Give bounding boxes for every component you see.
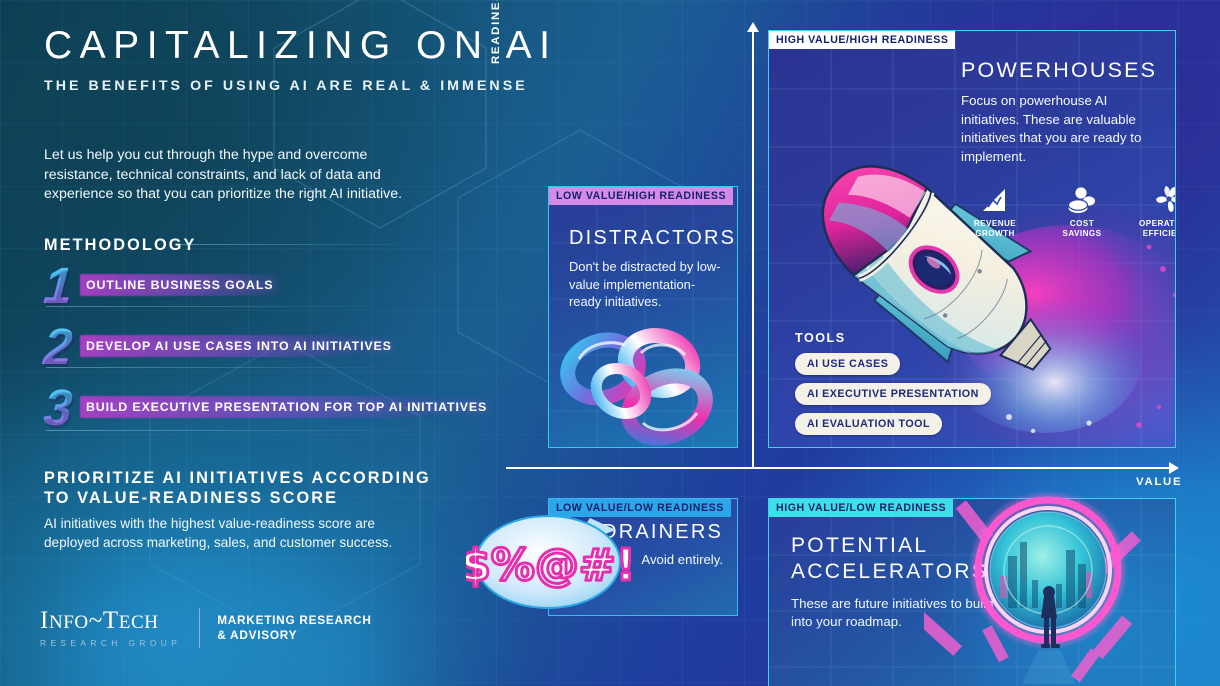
- info-tech-logo: INFO~TECH RESEARCH GROUP MARKETING RESEA…: [40, 608, 372, 648]
- operational-efficiency-icon: [1139, 183, 1176, 213]
- accelerators-body: These are future initiatives to build in…: [791, 595, 1006, 632]
- kpi-revenue-growth: REVENUE GROWTH: [965, 183, 1025, 238]
- step-label: BUILD EXECUTIVE PRESENTATION FOR TOP AI …: [86, 397, 487, 417]
- kpi-label-line1: COST: [1052, 219, 1112, 229]
- logo-name: INFO~TECH: [40, 608, 181, 633]
- quadrant-badge-accelerators: HIGH VALUE/LOW READINESS: [769, 499, 953, 517]
- kpi-label-line2: EFFICIENCY: [1139, 229, 1176, 239]
- tool-pill[interactable]: AI USE CASES: [795, 353, 900, 375]
- kpi-label: OPERATIONAL EFFICIENCY: [1139, 219, 1176, 238]
- prioritize-body: AI initiatives with the highest value-re…: [44, 515, 424, 552]
- infographic-canvas: CAPITALIZING ON AI THE BENEFITS OF USING…: [0, 0, 1220, 686]
- logo-name-t: T: [103, 607, 119, 634]
- value-axis-label: VALUE: [1136, 476, 1182, 488]
- kpi-label: REVENUE GROWTH: [965, 219, 1025, 238]
- accelerators-title-line2: ACCELERATORS: [791, 559, 1006, 585]
- cost-savings-icon: [1052, 183, 1112, 213]
- logo-name-ech: ECH: [119, 612, 159, 633]
- logo-tagline: RESEARCH GROUP: [40, 638, 181, 648]
- methodology-heading: METHODOLOGY: [44, 236, 196, 255]
- quadrant-badge-drainers: LOW VALUE/LOW READINESS: [549, 499, 731, 517]
- quadrant-badge-distractors: LOW VALUE/HIGH READINESS: [549, 187, 733, 205]
- distractors-title: DISTRACTORS: [569, 227, 727, 250]
- accelerators-text-block: POTENTIAL ACCELERATORS These are future …: [791, 533, 1006, 632]
- methodology-step: 3 BUILD EXECUTIVE PRESENTATION FOR TOP A…: [36, 384, 456, 445]
- accelerators-title: POTENTIAL ACCELERATORS: [791, 533, 1006, 585]
- step-label: OUTLINE BUSINESS GOALS: [86, 275, 273, 295]
- prioritize-heading-line1: PRIORITIZE AI INITIATIVES ACCORDING: [44, 468, 464, 488]
- readiness-axis-label: READINESS: [490, 0, 502, 64]
- quadrant-distractors[interactable]: LOW VALUE/HIGH READINESS DISTRACTORS Don…: [548, 186, 738, 448]
- kpi-label-line1: REVENUE: [965, 219, 1025, 229]
- revenue-growth-icon: [965, 183, 1025, 213]
- logo-wordmark: INFO~TECH RESEARCH GROUP: [40, 608, 181, 648]
- methodology-step: 2 DEVELOP AI USE CASES INTO AI INITIATIV…: [36, 323, 456, 384]
- logo-name-nfo: NFO: [49, 612, 89, 633]
- header-block: CAPITALIZING ON AI THE BENEFITS OF USING…: [44, 26, 514, 94]
- powerhouses-kpi-row: REVENUE GROWTH: [965, 183, 1176, 238]
- quadrant-background: [549, 187, 737, 447]
- methodology-step: 1 OUTLINE BUSINESS GOALS: [36, 262, 456, 323]
- step-rule: [46, 306, 386, 307]
- kpi-label: COST SAVINGS: [1052, 219, 1112, 238]
- step-rule: [46, 367, 406, 368]
- drainers-body: Avoid entirely.: [602, 552, 723, 567]
- logo-division-line2: & ADVISORY: [217, 628, 371, 643]
- kpi-label-line2: SAVINGS: [1052, 229, 1112, 239]
- powerhouses-title: POWERHOUSES: [961, 58, 1166, 83]
- kpi-cost-savings: COST SAVINGS: [1052, 183, 1112, 238]
- logo-divider: [199, 608, 200, 648]
- page-subtitle: THE BENEFITS OF USING AI ARE REAL & IMME…: [44, 78, 514, 94]
- step-rule: [46, 430, 446, 431]
- kpi-operational-efficiency: OPERATIONAL EFFICIENCY: [1139, 183, 1176, 238]
- value-axis-arrow: [1169, 462, 1179, 474]
- logo-name-tilde: ~: [89, 607, 103, 634]
- page-title: CAPITALIZING ON AI: [44, 26, 514, 65]
- readiness-axis-arrow: [747, 22, 759, 32]
- logo-division-line1: MARKETING RESEARCH: [217, 613, 371, 628]
- prioritize-heading: PRIORITIZE AI INITIATIVES ACCORDING TO V…: [44, 468, 464, 508]
- tool-pill[interactable]: AI EVALUATION TOOL: [795, 413, 942, 435]
- value-readiness-matrix: READINESS VALUE: [506, 0, 1220, 686]
- kpi-label-line1: OPERATIONAL: [1139, 219, 1176, 229]
- accelerators-title-line1: POTENTIAL: [791, 533, 1006, 559]
- distractors-body: Don't be distracted by low-value impleme…: [569, 258, 727, 311]
- tools-heading: TOOLS: [795, 331, 991, 345]
- drainers-title: DRAINERS: [602, 521, 723, 544]
- step-number: 3: [34, 380, 82, 436]
- value-axis-line: [506, 467, 1172, 469]
- logo-name-i: I: [40, 607, 49, 634]
- tool-pill[interactable]: AI EXECUTIVE PRESENTATION: [795, 383, 991, 405]
- powerhouses-body: Focus on powerhouse AI initiatives. Thes…: [961, 92, 1166, 166]
- distractors-text-block: DISTRACTORS Don't be distracted by low-v…: [569, 227, 727, 311]
- drainers-text-block: DRAINERS Avoid entirely.: [602, 521, 723, 567]
- powerhouses-text-block: POWERHOUSES Focus on powerhouse AI initi…: [961, 58, 1166, 166]
- step-label: DEVELOP AI USE CASES INTO AI INITIATIVES: [86, 336, 392, 356]
- methodology-rule: [180, 244, 430, 245]
- methodology-steps: 1 OUTLINE BUSINESS GOALS 2 DEVELOP AI US…: [36, 262, 456, 445]
- intro-paragraph: Let us help you cut through the hype and…: [44, 146, 416, 205]
- kpi-label-line2: GROWTH: [965, 229, 1025, 239]
- tools-block: TOOLS AI USE CASES AI EXECUTIVE PRESENTA…: [795, 331, 991, 435]
- quadrant-badge-powerhouses: HIGH VALUE/HIGH READINESS: [769, 31, 955, 49]
- quadrant-accelerators[interactable]: HIGH VALUE/LOW READINESS POTENTIAL ACCEL…: [768, 498, 1176, 686]
- quadrant-powerhouses[interactable]: HIGH VALUE/HIGH READINESS POWERHOUSES Fo…: [768, 30, 1176, 448]
- readiness-axis-line: [752, 30, 754, 468]
- logo-division: MARKETING RESEARCH & ADVISORY: [217, 613, 371, 643]
- quadrant-drainers[interactable]: LOW VALUE/LOW READINESS DRAINERS Avoid e…: [548, 498, 738, 616]
- prioritize-heading-line2: TO VALUE-READINESS SCORE: [44, 488, 464, 508]
